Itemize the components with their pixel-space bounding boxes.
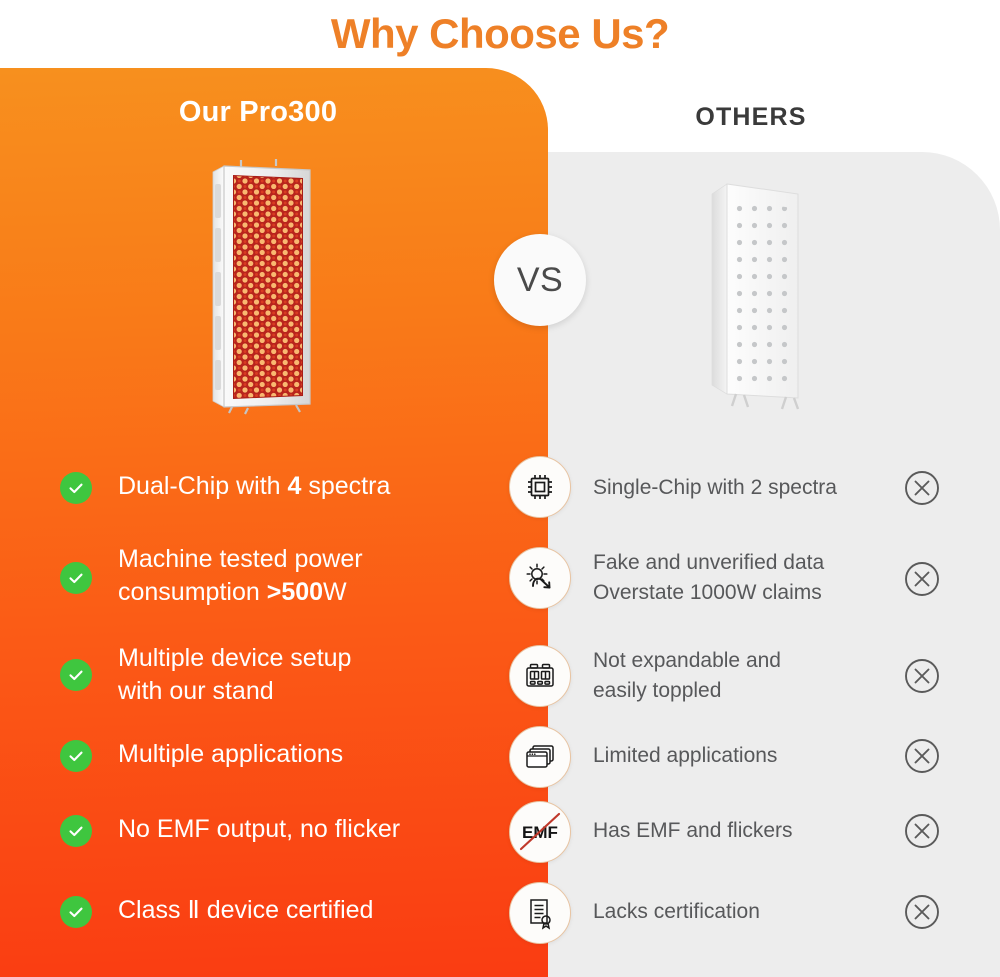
pro-feature-line1: Machine tested power [118,543,468,576]
display-meter-icon [522,658,558,694]
pro-feature-bold: 500 [281,578,323,606]
others-feature-line1: Not expandable and [593,646,893,676]
x-icon [903,812,941,850]
others-feature-text: Single-Chip with 2 spectra [593,473,893,503]
others-feature-line2: easily toppled [593,676,893,706]
pro-feature-line2: with our stand [118,675,468,708]
pro-feature-pre: Dual-Chip with [118,472,288,500]
check-icon [60,815,92,847]
pro-feature-bold: 4 [288,472,302,500]
x-icon [903,469,941,507]
x-icon [903,657,941,695]
others-feature-text: Not expandable and easily toppled [593,646,893,706]
pro-feature-text: No EMF output, no flicker [118,813,468,846]
others-column-heading: OTHERS [600,103,902,132]
x-icon [903,737,941,775]
page-title: Why Choose Us? [0,0,1000,68]
check-icon [60,740,92,772]
pro-feature-line2: consumption >500W [118,576,468,609]
others-feature-text: Has EMF and flickers [593,816,893,846]
others-feature-text: Lacks certification [593,897,893,927]
others-feature-text: Limited applications [593,741,893,771]
display-meter-icon-circle [509,645,571,707]
check-icon [60,896,92,928]
others-product-image [702,166,818,416]
pro-feature-text: Machine tested power consumption >500W [118,543,468,609]
check-icon [60,562,92,594]
chip-icon [523,470,557,504]
pro-feature-text: Multiple applications [118,738,468,771]
sun-arrow-down-icon-circle [509,547,571,609]
sun-arrow-down-icon [522,560,558,596]
stacked-screens-icon-circle [509,726,571,788]
certificate-icon [523,896,557,930]
pro-feature-symbol: > [267,578,282,606]
emf-blocked-icon-circle: EMF [509,801,571,863]
certificate-icon-circle [509,882,571,944]
x-icon [903,893,941,931]
emf-blocked-icon: EMF [512,804,568,860]
pro-column-heading: Our Pro300 [0,96,516,129]
pro-feature-text: Dual-Chip with 4 spectra [118,470,468,503]
pro-feature-text: Multiple device setup with our stand [118,642,468,708]
check-icon [60,472,92,504]
vs-badge: VS [494,234,586,326]
pro-feature-text: Class Ⅱ device certified [118,894,468,927]
others-feature-line1: Fake and unverified data [593,548,893,578]
stacked-screens-icon [522,739,558,775]
others-feature-line1: Single-Chip with 2 spectra [593,473,893,503]
x-icon [903,560,941,598]
others-feature-line2: Overstate 1000W claims [593,578,893,608]
pro-feature-line1: Multiple device setup [118,642,468,675]
check-icon [60,659,92,691]
others-feature-text: Fake and unverified data Overstate 1000W… [593,548,893,608]
pro-feature-post: spectra [301,472,390,500]
pro-feature-line2-post: W [323,578,347,606]
pro300-product-image [196,156,324,416]
pro-feature-line2-pre: consumption [118,578,267,606]
chip-icon-circle [509,456,571,518]
